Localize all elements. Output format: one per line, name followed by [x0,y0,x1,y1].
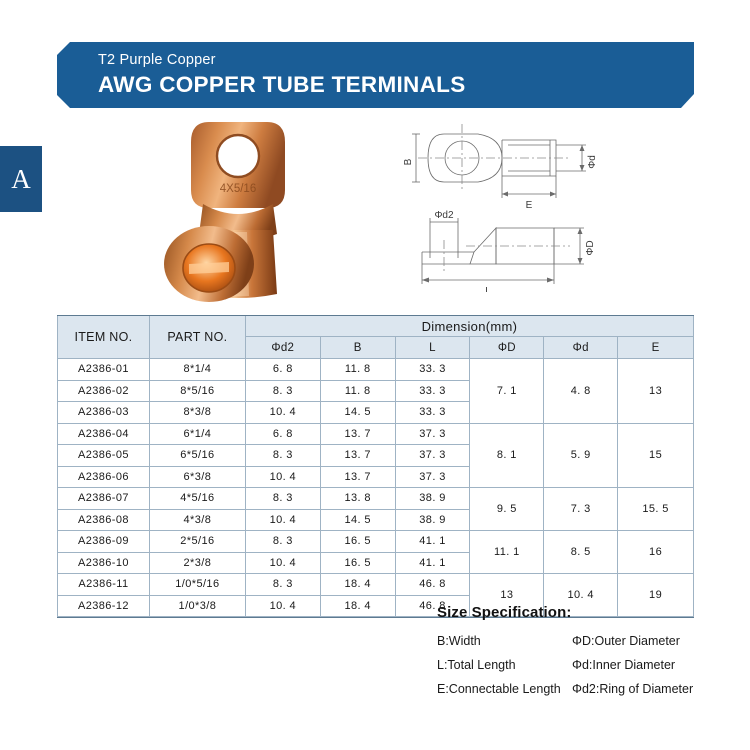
specification-table: ITEM NO. PART NO. Dimension(mm) Φd2 B L … [57,315,694,617]
size-specification-row: L:Total LengthΦd:Inner Diameter [437,658,737,672]
size-spec-left-label: B:Width [437,634,572,648]
cell-e: 15. 5 [618,488,694,531]
cell-phi-d-small: 4. 8 [544,359,618,424]
cell-e: 13 [618,359,694,424]
cell-b: 13. 7 [320,466,395,488]
cell-l: 37. 3 [395,423,470,445]
page-title: AWG COPPER TUBE TERMINALS [98,71,694,99]
drawing-label-phi-d2: Φd2 [434,210,454,221]
cell-b: 13. 8 [320,488,395,510]
cell-phi-d2: 8. 3 [245,574,320,596]
cell-phi-d2: 10. 4 [245,595,320,617]
cell-item-no: A2386-10 [58,552,150,574]
cell-b: 13. 7 [320,445,395,467]
cell-item-no: A2386-09 [58,531,150,553]
cell-part-no: 6*5/16 [149,445,245,467]
cell-item-no: A2386-01 [58,359,150,381]
drawing-label-l: L [485,286,491,292]
cell-b: 14. 5 [320,402,395,424]
cell-l: 37. 3 [395,445,470,467]
cell-l: 33. 3 [395,380,470,402]
cell-item-no: A2386-07 [58,488,150,510]
page-banner: T2 Purple Copper AWG COPPER TUBE TERMINA… [57,42,694,108]
cell-part-no: 8*1/4 [149,359,245,381]
cell-item-no: A2386-03 [58,402,150,424]
cell-l: 41. 1 [395,531,470,553]
washer-inner-highlight [189,262,229,274]
cell-phi-D-big: 8. 1 [470,423,544,488]
cell-part-no: 8*5/16 [149,380,245,402]
column-header-e: E [618,337,694,359]
column-header-phi-d-small: Φd [544,337,618,359]
cell-part-no: 6*3/8 [149,466,245,488]
cell-part-no: 2*3/8 [149,552,245,574]
cell-phi-d2: 10. 4 [245,402,320,424]
cell-item-no: A2386-05 [58,445,150,467]
cell-l: 33. 3 [395,402,470,424]
drawing-label-e: E [526,200,533,211]
cell-b: 16. 5 [320,552,395,574]
cell-phi-d-small: 5. 9 [544,423,618,488]
cell-item-no: A2386-02 [58,380,150,402]
cell-e: 15 [618,423,694,488]
column-header-part-no: PART NO. [149,316,245,359]
cell-phi-d2: 10. 4 [245,552,320,574]
cell-part-no: 8*3/8 [149,402,245,424]
cell-l: 33. 3 [395,359,470,381]
size-specification-row: B:WidthΦD:Outer Diameter [437,634,737,648]
column-header-item-no: ITEM NO. [58,316,150,359]
table-row: A2386-046*1/46. 813. 737. 38. 15. 915 [58,423,694,445]
drawing-label-b: B [404,158,414,165]
cell-b: 14. 5 [320,509,395,531]
cell-l: 38. 9 [395,509,470,531]
technical-drawing-svg: B E Φd Φd2 L ΦD [404,112,704,292]
section-index-letter: A [11,166,31,193]
cell-part-no: 1/0*5/16 [149,574,245,596]
cell-phi-d2: 8. 3 [245,531,320,553]
cell-phi-d2: 6. 8 [245,423,320,445]
cell-phi-D-big: 7. 1 [470,359,544,424]
cell-phi-d-small: 8. 5 [544,531,618,574]
cell-b: 16. 5 [320,531,395,553]
cell-b: 13. 7 [320,423,395,445]
cell-item-no: A2386-08 [58,509,150,531]
cell-b: 11. 8 [320,359,395,381]
cell-l: 38. 9 [395,488,470,510]
cell-phi-d2: 8. 3 [245,488,320,510]
cell-l: 41. 1 [395,552,470,574]
size-specification-row: E:Connectable LengthΦd2:Ring of Diameter [437,682,737,696]
size-spec-left-label: E:Connectable Length [437,682,572,696]
cell-phi-d2: 10. 4 [245,509,320,531]
cell-phi-D-big: 11. 1 [470,531,544,574]
drawing-label-phi-D: ΦD [585,240,596,255]
table-header-row-1: ITEM NO. PART NO. Dimension(mm) [58,316,694,337]
size-specification-block: Size Specification: B:WidthΦD:Outer Diam… [437,604,737,706]
cell-b: 18. 4 [320,574,395,596]
table-row: A2386-018*1/46. 811. 833. 37. 14. 813 [58,359,694,381]
cell-part-no: 1/0*3/8 [149,595,245,617]
cell-phi-d-small: 7. 3 [544,488,618,531]
size-specification-heading: Size Specification: [437,604,737,621]
column-header-b: B [320,337,395,359]
cell-l: 46. 8 [395,574,470,596]
cell-item-no: A2386-12 [58,595,150,617]
cell-item-no: A2386-11 [58,574,150,596]
size-spec-right-label: Φd2:Ring of Diameter [572,682,737,696]
cell-phi-d2: 10. 4 [245,466,320,488]
column-header-phi-D-big: ΦD [470,337,544,359]
cell-phi-D-big: 9. 5 [470,488,544,531]
column-header-l: L [395,337,470,359]
cell-l: 37. 3 [395,466,470,488]
product-stamp-text: 4X5/16 [220,183,256,195]
cell-item-no: A2386-06 [58,466,150,488]
banner-subtitle: T2 Purple Copper [98,51,694,69]
cell-part-no: 4*5/16 [149,488,245,510]
cell-part-no: 4*3/8 [149,509,245,531]
cell-b: 18. 4 [320,595,395,617]
table-row: A2386-092*5/168. 316. 541. 111. 18. 516 [58,531,694,553]
specification-table-wrapper: ITEM NO. PART NO. Dimension(mm) Φd2 B L … [57,315,694,617]
cell-phi-d2: 8. 3 [245,445,320,467]
technical-drawings: B E Φd Φd2 L ΦD [404,112,704,292]
column-header-phi-d2: Φd2 [245,337,320,359]
column-header-dimension: Dimension(mm) [245,316,693,337]
table-body: A2386-018*1/46. 811. 833. 37. 14. 813A23… [58,359,694,617]
size-spec-left-label: L:Total Length [437,658,572,672]
product-photo: 4X5/16 [163,112,341,302]
table-row: A2386-074*5/168. 313. 838. 99. 57. 315. … [58,488,694,510]
product-photo-image: 4X5/16 [163,112,341,302]
cell-part-no: 2*5/16 [149,531,245,553]
drawing-label-phi-d: Φd [587,155,598,169]
cell-b: 11. 8 [320,380,395,402]
cell-part-no: 6*1/4 [149,423,245,445]
table-head: ITEM NO. PART NO. Dimension(mm) Φd2 B L … [58,316,694,359]
section-index-tab: A [0,146,42,212]
size-spec-right-label: ΦD:Outer Diameter [572,634,737,648]
size-specification-rows: B:WidthΦD:Outer DiameterL:Total LengthΦd… [437,634,737,696]
cell-item-no: A2386-04 [58,423,150,445]
size-spec-right-label: Φd:Inner Diameter [572,658,737,672]
table-row: A2386-111/0*5/168. 318. 446. 81310. 419 [58,574,694,596]
cell-phi-d2: 8. 3 [245,380,320,402]
cell-phi-d2: 6. 8 [245,359,320,381]
cell-e: 16 [618,531,694,574]
